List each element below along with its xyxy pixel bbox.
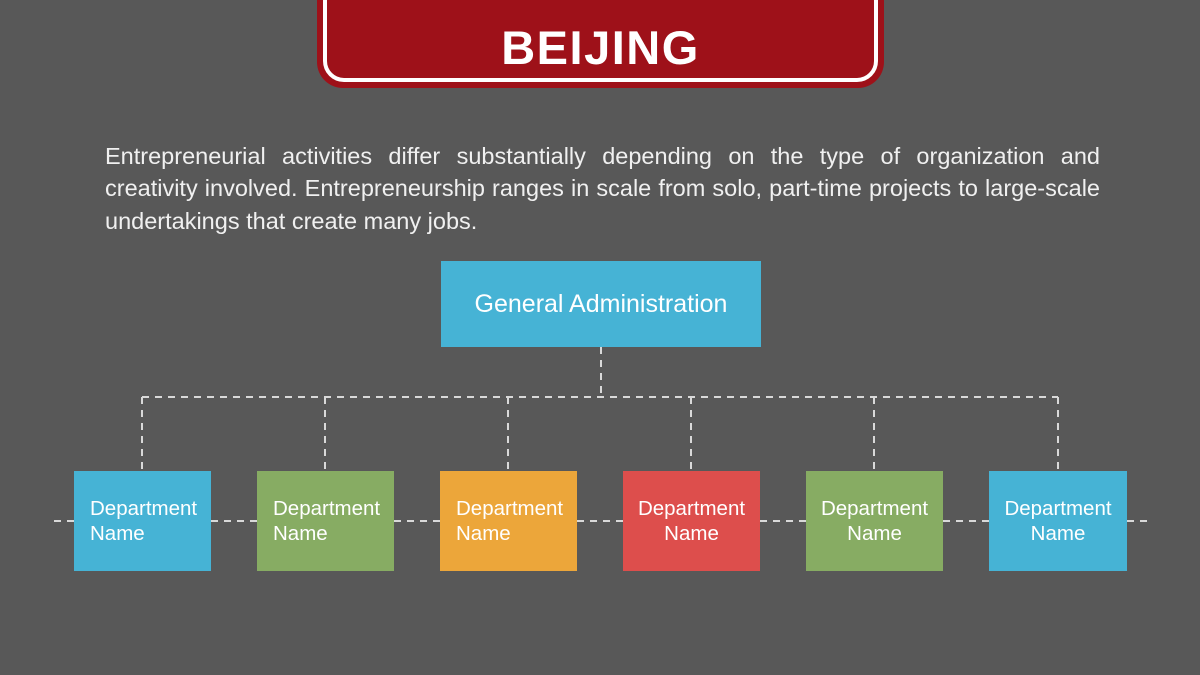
org-node-department-5-label: Department Name <box>816 496 933 546</box>
org-node-department-4[interactable]: Department Name <box>623 471 760 571</box>
org-node-root-label: General Administration <box>475 289 728 320</box>
org-node-department-6-label: Department Name <box>999 496 1117 546</box>
org-node-department-3-label: Department Name <box>456 496 567 546</box>
org-node-department-2-label: Department Name <box>273 496 384 546</box>
org-node-department-5[interactable]: Department Name <box>806 471 943 571</box>
slide-canvas: BEIJING Entrepreneurial activities diffe… <box>0 0 1200 675</box>
org-node-department-6[interactable]: Department Name <box>989 471 1127 571</box>
org-chart: General Administration Department Name D… <box>0 0 1200 675</box>
org-node-department-1-label: Department Name <box>90 496 201 546</box>
page-title: BEIJING <box>501 24 700 88</box>
org-node-department-1[interactable]: Department Name <box>74 471 211 571</box>
org-node-root[interactable]: General Administration <box>441 261 761 347</box>
org-node-department-2[interactable]: Department Name <box>257 471 394 571</box>
org-node-department-4-label: Department Name <box>633 496 750 546</box>
org-node-department-3[interactable]: Department Name <box>440 471 577 571</box>
